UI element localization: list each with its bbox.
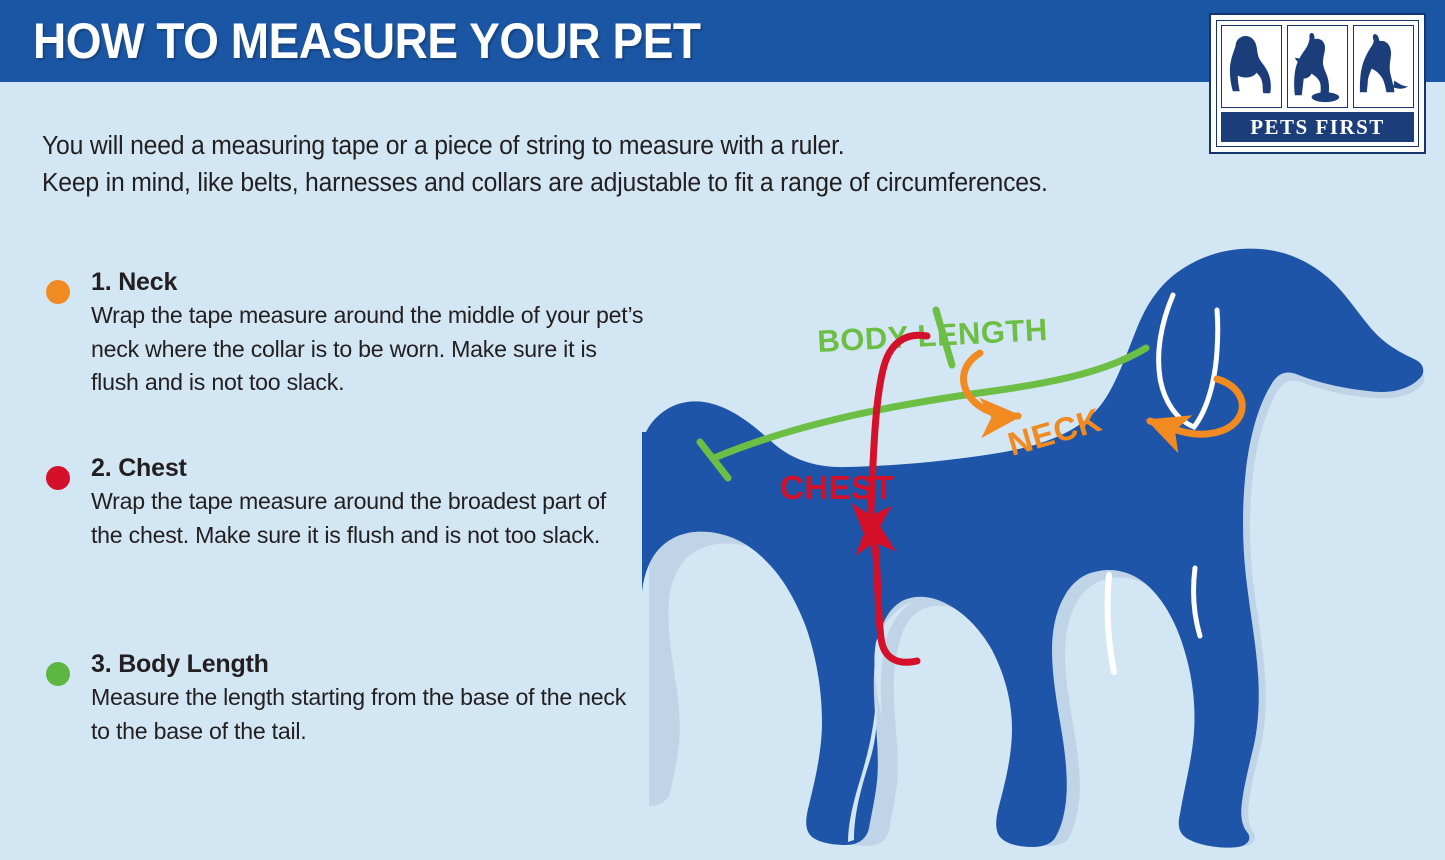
- logo-inner-frame: PETS FIRST: [1216, 20, 1419, 147]
- dog-sitting-icon: [1221, 25, 1282, 108]
- brand-logo: PETS FIRST: [1209, 13, 1426, 154]
- intro-line-2: Keep in mind, like belts, harnesses and …: [42, 165, 1158, 202]
- label-body-length: BODY LENGTH: [817, 312, 1049, 359]
- logo-wordmark-text: PETS FIRST: [1250, 115, 1385, 140]
- page-title: HOW TO MEASURE YOUR PET: [33, 15, 701, 67]
- bullet-neck-icon: [46, 280, 70, 304]
- intro-text: You will need a measuring tape or a piec…: [42, 128, 1158, 202]
- step-item-body-length: 3. Body Length Measure the length starti…: [42, 648, 652, 748]
- step-item-chest: 2. Chest Wrap the tape measure around th…: [42, 452, 652, 552]
- step-heading-neck: 1. Neck: [91, 266, 652, 299]
- step-body-neck: Wrap the tape measure around the middle …: [91, 299, 644, 400]
- step-heading-body-length: 3. Body Length: [91, 648, 652, 681]
- measuring-guide-page: HOW TO MEASURE YOUR PET: [0, 0, 1445, 860]
- step-body-body-length: Measure the length starting from the bas…: [91, 681, 644, 748]
- bullet-chest-icon: [46, 466, 70, 490]
- intro-line-1: You will need a measuring tape or a piec…: [42, 128, 1158, 165]
- dog-measurement-diagram: BODY LENGTH NECK CHEST: [640, 240, 1445, 860]
- step-body-chest: Wrap the tape measure around the broades…: [91, 485, 644, 552]
- logo-wordmark: PETS FIRST: [1221, 112, 1414, 142]
- step-item-neck: 1. Neck Wrap the tape measure around the…: [42, 266, 652, 400]
- dog-begging-icon: [1287, 25, 1348, 108]
- label-chest: CHEST: [780, 469, 894, 506]
- dog-standing-icon: [1353, 25, 1414, 108]
- bullet-body-length-icon: [46, 662, 70, 686]
- logo-dog-panels: [1221, 25, 1414, 108]
- step-heading-chest: 2. Chest: [91, 452, 652, 485]
